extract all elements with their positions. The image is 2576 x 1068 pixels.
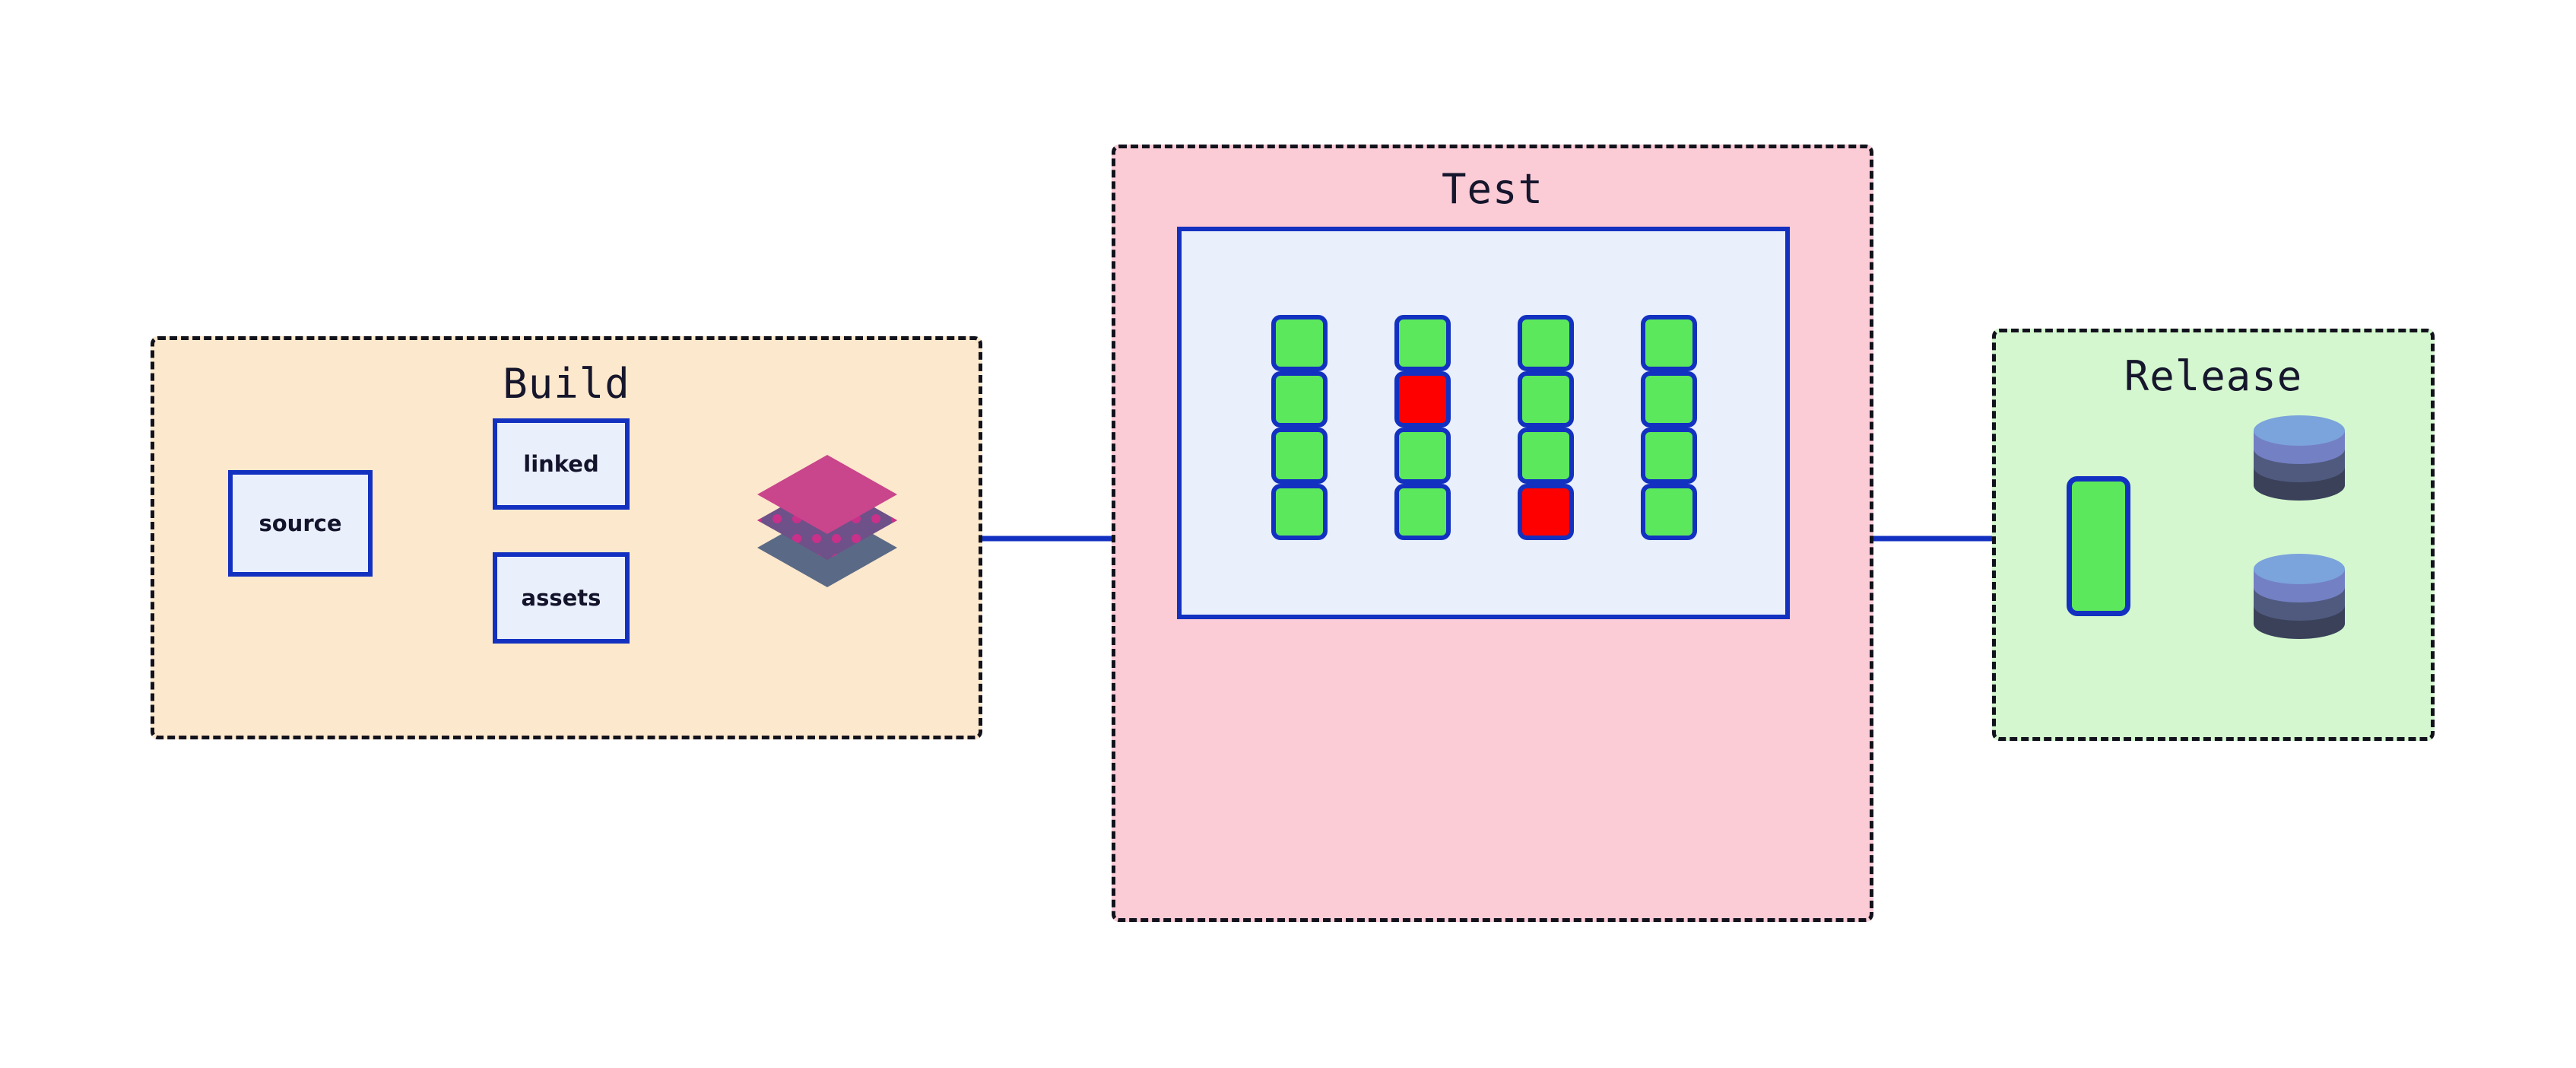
test-cell-r1c3[interactable] [1518,315,1574,371]
test-cell-r4c2[interactable] [1394,484,1451,540]
database-icon-top-lid [2254,415,2345,446]
test-cell-r4c3[interactable] [1518,484,1574,540]
test-cell-r2c3[interactable] [1518,371,1574,428]
layers-icon [751,453,903,590]
test-cell-r2c2[interactable] [1394,371,1451,428]
build-stage-title: Build [154,360,979,408]
database-icon-top[interactable] [2249,411,2349,505]
test-cell-r1c4[interactable] [1641,315,1697,371]
test-cell-r3c3[interactable] [1518,428,1574,484]
build-box-source-label: source [259,510,342,536]
build-box-source[interactable]: source [228,470,373,577]
test-cell-r1c1[interactable] [1271,315,1328,371]
database-icon-bottom-lid [2254,554,2345,584]
build-box-linked[interactable]: linked [493,418,630,510]
test-cell-r3c2[interactable] [1394,428,1451,484]
test-stage-title: Test [1115,165,1870,213]
test-cell-r4c1[interactable] [1271,484,1328,540]
build-box-assets[interactable]: assets [493,552,630,644]
diagram-canvas: Build source linked assets Test [0,0,2576,1068]
release-stage-title: Release [1996,352,2431,400]
test-results-grid [1271,315,1697,536]
test-cell-r3c1[interactable] [1271,428,1328,484]
build-box-linked-label: linked [523,451,598,477]
build-box-assets-label: assets [522,585,601,611]
test-cell-r2c4[interactable] [1641,371,1697,428]
test-cell-r1c2[interactable] [1394,315,1451,371]
test-cell-r3c4[interactable] [1641,428,1697,484]
release-stage: Release [1992,329,2435,741]
database-icon-bottom[interactable] [2249,549,2349,644]
release-deploy-box[interactable] [2067,476,2130,616]
test-cell-r4c4[interactable] [1641,484,1697,540]
test-cell-r2c1[interactable] [1271,371,1328,428]
